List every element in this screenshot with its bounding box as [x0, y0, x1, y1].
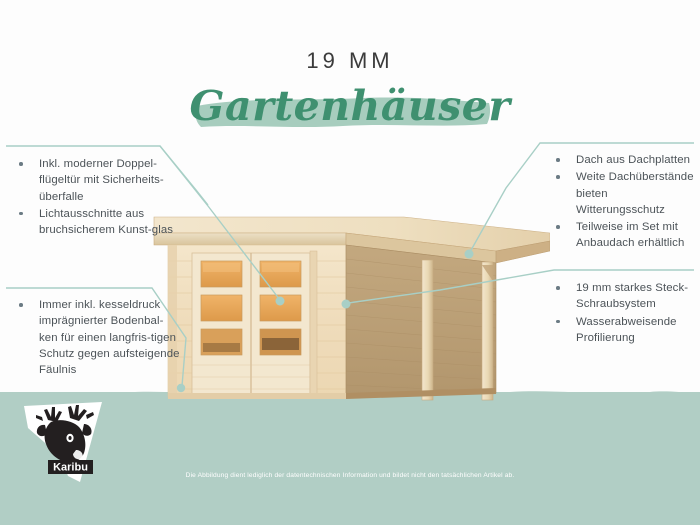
callout-top-left: Inkl. moderner Doppel-flügeltür mit Sich… [6, 144, 182, 239]
callout-bottom-left: Immer inkl. kesseldruck imprägnierter Bo… [6, 285, 182, 379]
base-beam-front [168, 393, 346, 399]
roof-fascia-front [154, 233, 346, 245]
annex-post-1 [422, 260, 433, 400]
list-item: 19 mm starkes Steck-Schraubsystem [551, 280, 695, 313]
header-subtitle: 19 MM [0, 48, 700, 74]
callout-top-left-list: Inkl. moderner Doppel-flügeltür mit Sich… [6, 144, 182, 238]
deer-pupil [68, 436, 71, 440]
list-item: Inkl. moderner Doppel-flügeltür mit Sich… [14, 156, 182, 205]
garden-house-illustration [150, 205, 550, 410]
callout-bottom-right-list: 19 mm starkes Steck-Schraubsystem Wasser… [543, 268, 695, 346]
list-item: Teilweise im Set mit Anbaudach erhältlic… [551, 219, 698, 252]
annex-post-2 [482, 262, 493, 400]
header-title: Gartenhäuser [0, 82, 700, 130]
disclaimer-text: Die Abbildung dient lediglich der datent… [0, 472, 700, 479]
callout-bottom-left-list: Immer inkl. kesseldruck imprägnierter Bo… [6, 285, 182, 378]
header-title-wrap: Gartenhäuser [0, 82, 700, 144]
door-jamb-right [310, 251, 317, 397]
list-item: Immer inkl. kesseldruck imprägnierter Bo… [14, 297, 182, 378]
list-item: Weite Dachüberstände bieten Witterungssc… [551, 169, 698, 218]
infographic-canvas: 19 MM Gartenhäuser [0, 0, 700, 525]
list-item: Dach aus Dachplatten [551, 152, 698, 168]
callout-top-right-list: Dach aus Dachplatten Weite Dachüberständ… [543, 140, 698, 252]
side-wall [346, 245, 496, 397]
header: 19 MM Gartenhäuser [0, 48, 700, 144]
callout-bottom-right: 19 mm starkes Steck-Schraubsystem Wasser… [543, 268, 695, 347]
callout-top-right: Dach aus Dachplatten Weite Dachüberständ… [543, 140, 698, 253]
list-item: Lichtausschnitte aus bruchsicherem Kunst… [14, 206, 182, 239]
list-item: Wasserabweisende Profilierung [551, 314, 695, 347]
